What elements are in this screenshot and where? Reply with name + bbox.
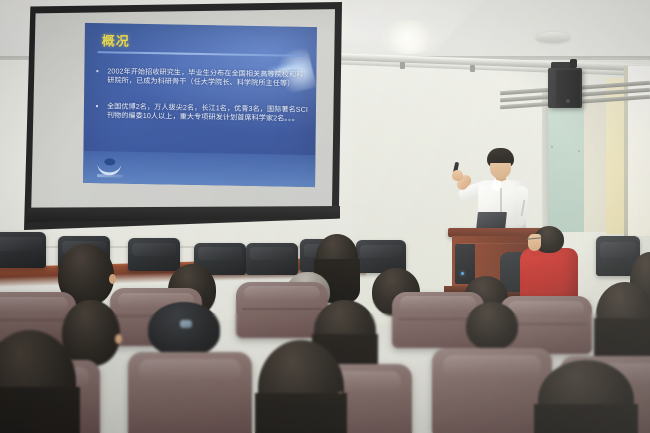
seat-highlight	[139, 359, 241, 381]
audience-head	[316, 234, 358, 280]
ear	[109, 274, 116, 284]
projected-slide: 概况 2002年开始招收研究生，毕业生分布在全国相关高等院校和科研院所，已成为科…	[83, 23, 317, 187]
auditorium-seat	[128, 352, 252, 433]
audience-head	[466, 302, 518, 350]
university-logo	[97, 156, 123, 176]
speaker-bracket-knob	[570, 59, 577, 68]
slide-bullet-item: 全国优博2名，万人拔尖2名，长江1名，优青3名，国际著名SCI刊物的编委10人以…	[96, 102, 308, 125]
executive-chair	[128, 238, 180, 271]
conduit-clip	[470, 65, 475, 72]
panel-fixing-dot	[551, 146, 553, 148]
executive-chair	[0, 232, 46, 268]
speaker-driver-icon	[566, 99, 570, 103]
seat-crease	[0, 319, 71, 321]
desktop-tower	[455, 244, 475, 284]
conduit-clip	[400, 62, 405, 69]
ear	[115, 334, 122, 344]
seat-highlight	[443, 355, 541, 378]
ceiling-downlight-right-icon	[378, 20, 440, 54]
presenter-right-arm	[512, 186, 528, 227]
slide-bullet-text: 2002年开始招收研究生，毕业生分布在全国相关高等院校和科研院所，已成为科研骨干…	[107, 67, 308, 89]
wall-panel-beige	[584, 92, 606, 232]
audience-head	[538, 360, 634, 433]
logo-wordmark	[97, 174, 123, 177]
panel-fixing-dot	[578, 150, 580, 152]
ear	[336, 392, 345, 405]
executive-chair	[246, 243, 298, 275]
presenter-hair-fringe	[488, 154, 513, 163]
logo-oval-icon	[104, 158, 115, 165]
audience-cap	[148, 302, 220, 356]
ceiling-fixture-icon	[536, 32, 570, 42]
audience-head	[62, 300, 120, 366]
seat-highlight	[508, 301, 583, 316]
seat-crease	[242, 308, 323, 310]
seat-highlight	[244, 286, 319, 301]
slide-bullet-item: 2002年开始招收研究生，毕业生分布在全国相关高等院校和科研院所，已成为科研骨干…	[96, 67, 308, 90]
bullet-marker-icon	[96, 70, 98, 72]
cap-logo-icon	[180, 320, 192, 328]
slide-bullet-text: 全国优博2名，万人拔尖2名，长江1名，优青3名，国际著名SCI刊物的编委10人以…	[107, 102, 308, 124]
audience-head	[596, 282, 650, 348]
audience-head	[258, 340, 344, 433]
seat-highlight	[400, 296, 475, 311]
lecture-hall-photo: 概况 2002年开始招收研究生，毕业生分布在全国相关高等院校和科研院所，已成为科…	[0, 0, 650, 433]
glass-panel-green	[548, 96, 584, 232]
power-led-icon	[461, 272, 464, 275]
seat-highlight	[0, 297, 68, 312]
bullet-marker-icon	[96, 105, 98, 107]
presenter-left-hand	[452, 170, 463, 181]
slide-title: 概况	[102, 30, 130, 50]
